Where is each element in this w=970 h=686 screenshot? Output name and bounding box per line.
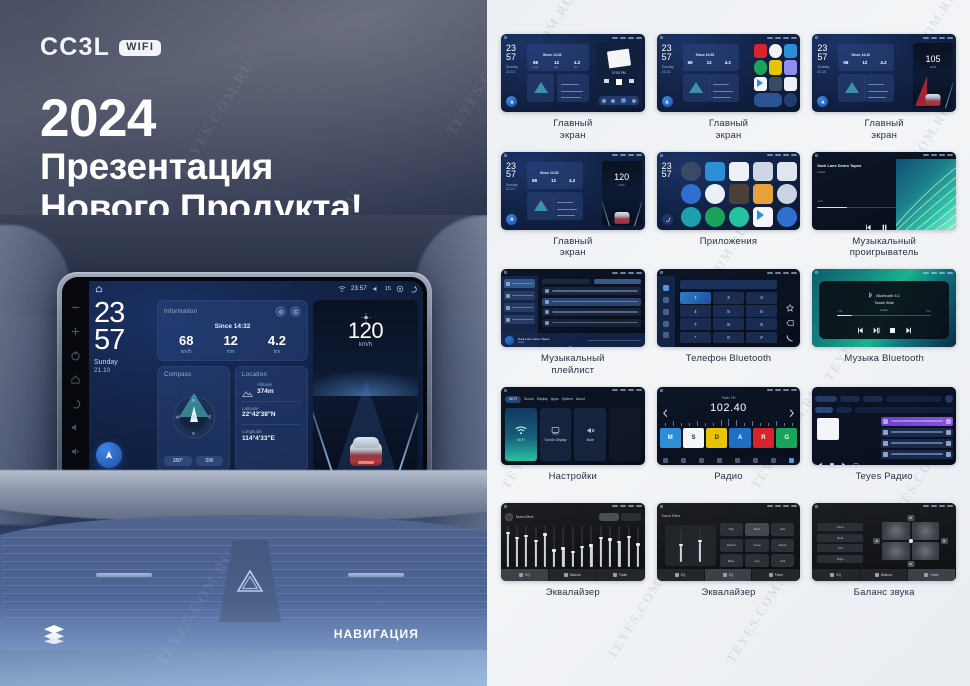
vent-chrome-right [348,573,404,577]
compass-label-e: E [208,415,211,420]
navigation-arrow-icon [509,216,515,222]
app-icon[interactable] [753,184,773,204]
information-card[interactable]: Information Since 14:32 [157,300,308,361]
head-unit-screen[interactable]: 23:57 15 23 57 Sunday 21.10 [89,281,423,478]
call-icon[interactable] [786,329,794,337]
compass-dial: N E S W [173,396,215,438]
gallery-caption: Баланс звука [854,587,915,609]
eq-band[interactable] [571,526,574,567]
teyes-subheader [812,406,956,414]
contacts-icon[interactable] [663,297,669,303]
preset-flat[interactable] [599,513,619,521]
eq-band[interactable] [599,526,602,567]
balance-down-button[interactable] [907,561,914,567]
list-item[interactable] [881,439,953,448]
scan-button[interactable] [753,458,758,463]
mini-status-bar [657,269,801,276]
dial-key[interactable]: 5 [713,305,745,317]
dial-key[interactable]: * [680,332,712,344]
eq-band[interactable] [581,526,584,567]
preset-tile[interactable]: G [776,428,797,448]
eq-band[interactable] [590,526,593,567]
progress-bar[interactable] [587,340,641,341]
home-icon [504,36,507,39]
dial-key[interactable]: 9 [746,318,778,330]
home-icon[interactable] [70,374,81,385]
card-header: Information [164,306,301,317]
thumb-stat-unit: km [574,66,577,69]
teyes-nowplaying [815,417,881,462]
eq-band[interactable] [553,526,556,567]
gallery-item[interactable]: 1 2 3 4 5 6 7 8 9 * 0 # [657,269,801,377]
gallery-item[interactable]: Radio FM 102.40 M [657,387,801,493]
gallery-item[interactable]: 2357 Sunday21.10 Since 14:32 68 12 4.2 k… [501,34,645,142]
list-item[interactable] [504,279,535,288]
gallery-caption: Радио [714,471,742,493]
sound-effect-knob[interactable] [505,513,513,521]
location-card[interactable]: Location Altitude 374m [235,366,308,472]
tune-up-icon[interactable] [788,405,795,414]
home-icon[interactable] [95,285,103,293]
app-icon[interactable] [705,207,725,227]
gallery-caption: Музыка Bluetooth [844,353,924,375]
next-icon[interactable] [841,455,847,461]
thumbnail-settings[interactable]: Wi-Fi Sound Display Apps System About Wi… [501,387,645,465]
compass-center-dot [191,415,196,420]
app-icon[interactable] [777,162,797,182]
call-history-icon[interactable] [663,321,669,327]
mini-status-bar [501,152,645,159]
thumb-location-card [864,74,894,102]
thumbnail-home-apps[interactable]: 2357 Sunday21.10 Since 14:32 68 12 4.2 [657,34,801,112]
longitude-value: 114°4'33"E [242,435,301,444]
gear-icon[interactable] [275,306,286,317]
tab-fader[interactable]: Fader [752,569,800,581]
thumb-stat-unit: min [554,66,558,69]
navigation-fab[interactable] [96,442,122,468]
star-icon[interactable] [786,299,794,307]
visualizer [896,159,956,230]
list-item[interactable] [504,315,535,324]
favorite-icon[interactable] [853,455,859,461]
eq-band[interactable] [627,526,630,567]
thumbnail-radio[interactable]: Radio FM 102.40 M [657,387,801,465]
eq-band[interactable] [608,526,611,567]
settings-card-label: Wi-Fi [517,438,524,442]
album-art [817,418,839,440]
preset-tile[interactable]: M [660,428,681,448]
app-icon[interactable] [753,162,773,182]
dial-key[interactable]: 7 [680,318,712,330]
bluetooth-version: Bluetooth 5.1 [876,293,900,298]
teyes-header [812,394,956,404]
settings-card-display[interactable]: TurnOn Display [540,408,572,461]
balance-right-button[interactable] [941,538,948,544]
dial-key[interactable]: 8 [713,318,745,330]
tab-balance[interactable]: Balance [549,569,597,581]
power-icon[interactable] [70,350,81,361]
tab-sound[interactable]: Sound [524,397,534,401]
clock-widget[interactable]: 23 57 Sunday 21.10 [94,300,152,472]
equalizer-presets [599,513,641,521]
save-button[interactable] [771,458,776,463]
thumb-hud-unit: km/h [602,183,642,187]
settings-card-mute[interactable]: Mute [574,408,606,461]
tab-balance[interactable]: Balance [860,569,908,581]
thumbnail-bluetooth-music[interactable]: Bluetooth 5.1 Toosie Slide Drake 0:48 3:… [812,269,956,347]
app-icon[interactable] [753,207,773,227]
thumb-stat: 68 [532,178,537,183]
tab[interactable] [594,279,641,284]
preset-tile[interactable]: D [706,428,727,448]
list-item[interactable] [881,450,953,459]
tune-down-icon[interactable] [662,405,669,414]
wifi-icon[interactable] [338,285,346,293]
mini-status-bar [657,387,801,394]
list-icon[interactable] [699,458,704,463]
thumbnail-equalizer-2[interactable]: Sound Effect Pop Rock Jazz Classic Vocal… [657,503,801,581]
dial-key[interactable]: 4 [680,305,712,317]
preset-button[interactable]: Pop [720,523,743,536]
app-icon [754,77,767,91]
speaker-icon [882,522,909,540]
thumbnail-home-media[interactable]: 2357 Sunday21.10 Since 14:32 68 12 4.2 k… [501,34,645,112]
preset-button[interactable]: Vocal [745,539,768,552]
tab-eq[interactable]: EQ [501,569,549,581]
thumbnail-home-hud-blue[interactable]: 2357 Sunday21.10 Since 14:32 68 12 4.2 [501,152,645,230]
frequency-scale[interactable] [663,419,795,426]
eq-band[interactable] [543,526,546,567]
volume-up-icon[interactable] [70,446,81,457]
thumb-since: Since 14:32 [540,171,559,175]
thumbnail-apps[interactable]: 2357 [657,152,801,230]
balance-readouts: Front Rear Left Right [817,521,863,565]
tab-display[interactable]: Display [537,397,548,401]
thumb-compass-card [683,74,710,102]
logo-wifi-badge: WIFI [119,40,161,56]
slider[interactable] [697,529,703,561]
list-item[interactable] [504,303,535,312]
tab-eq[interactable]: EQ [657,569,705,581]
thumb-stat-unit: km/h [533,66,539,69]
search-icon[interactable] [663,309,669,315]
dialpad: 1 2 3 4 5 6 7 8 9 * 0 # [680,292,778,343]
eq-band[interactable] [506,526,509,567]
play-pause-icon[interactable] [873,321,880,328]
stat-item: 68 km/h [179,334,193,355]
equalizer-title: Music Effect [516,515,533,519]
thumbnail-balance[interactable]: Front Rear Left Right [812,503,956,581]
screenshot-icon[interactable] [396,285,404,293]
pause-icon[interactable] [881,218,888,225]
search-icon[interactable] [681,458,686,463]
thumbnail-bluetooth-phone[interactable]: 1 2 3 4 5 6 7 8 9 * 0 # [657,269,801,347]
footer-label: НАВИГАЦИЯ [334,627,419,641]
preset-button[interactable]: Bass [720,554,743,567]
table-row[interactable] [542,319,640,327]
balance-row: Front [817,523,863,531]
eq-band[interactable] [618,526,621,567]
preset-button[interactable]: Dance [771,539,794,552]
app-icon [784,44,797,58]
eq-band[interactable] [515,526,518,567]
compass-readouts: 180° SW [164,456,223,466]
preset-button[interactable]: Classic [720,539,743,552]
thumb-hud-unit: km/h [913,65,953,69]
stats-row: 68 km/h 12 min 4.2 [164,334,301,355]
divider [242,401,301,402]
gallery-item[interactable]: 2357 Sunday21.10 Since 14:32 68 12 4.2 [812,34,956,142]
since-label: Since 14:32 [164,323,301,330]
home-icon [815,505,818,508]
playlist-main [538,276,644,333]
table-row[interactable] [542,287,640,295]
dial-key[interactable]: 0 [713,332,745,344]
thumb-clock: 2357 [662,44,672,61]
thumb-hud-speed: 105 [913,54,953,64]
thumbnail-playlist[interactable]: Dark Lane Demo Tapes Drake [501,269,645,347]
balance-row: Left [817,544,863,552]
progress-bar[interactable]: 0:48 3:12 [837,315,930,316]
thumb-since: Since 14:32 [696,53,715,57]
thumb-stat: 68 [533,60,538,65]
radio-toolbar [657,456,801,465]
equalizer-bands [506,526,640,567]
dial-key[interactable]: 1 [680,292,712,304]
stat-unit: km/h [179,349,193,355]
page-title: 2024 Презентация Нового Продукта! [40,92,460,229]
volume-down-icon[interactable] [70,422,81,433]
tab-eq-2[interactable]: EQ [705,569,753,581]
thumb-hud-widget: 120 km/h [602,161,642,226]
table-row[interactable] [542,308,640,316]
equalizer-tabbar: EQ EQ Fader [657,569,801,581]
thumbnail-teyes-radio[interactable] [812,387,956,465]
app-icon[interactable] [729,162,749,182]
table-row[interactable] [542,298,640,306]
layers-icon[interactable] [42,624,66,644]
tab-apps[interactable]: Apps [551,397,559,401]
eq-band[interactable] [562,526,565,567]
thumb-nav-fab [506,214,517,225]
app-icon[interactable] [681,184,701,204]
compass-card[interactable]: Compass N E [157,366,230,472]
grid-icon[interactable] [789,458,794,463]
thumb-information-card: Since 14:32 68 12 4.2 [683,44,739,71]
list-item[interactable] [881,417,953,426]
thumb-information-card: Since 14:32 68 12 4.2 [838,44,894,71]
tab-about[interactable]: About [576,397,585,401]
back-icon[interactable] [409,285,417,293]
slider[interactable] [678,529,684,561]
thumb-clock: 2357 [506,44,516,61]
next-icon [629,79,634,83]
app-dock-icon [784,93,797,107]
preset-tile[interactable]: S [683,428,704,448]
hud-car-model [614,212,629,224]
mini-status-bar [501,34,645,41]
radio-band: Radio FM [657,396,801,400]
gallery-caption: Настройки [549,471,597,493]
hardware-button-column [62,281,89,478]
tab-wifi[interactable]: Wi-Fi [505,396,521,403]
tab-fader[interactable]: Fader [908,569,956,581]
preset-button[interactable]: Jazz [771,523,794,536]
thumb-stat: 4.2 [880,60,886,65]
dial-key[interactable]: 3 [746,292,778,304]
app-icon[interactable] [705,184,725,204]
home-icon [660,154,663,157]
tab-system[interactable]: System [562,397,573,401]
thumb-clock: 2357 [506,162,516,179]
gallery-item[interactable]: 2357 Sunday21.10 Since 14:32 68 12 4.2 [657,34,801,142]
gallery-item[interactable]: Dark Lane Demo Tapes Drake Музыкальныйпл… [501,269,645,377]
time-elapsed: 0:48 [837,310,842,313]
app-icon[interactable] [777,207,797,227]
gallery-caption: Телефон Bluetooth [686,353,772,375]
balance-left-button[interactable] [873,538,880,544]
tab[interactable] [542,279,589,284]
refresh-icon[interactable] [290,306,301,317]
gallery-item[interactable]: Front Rear Left Right [812,503,956,609]
back-icon[interactable] [70,398,81,409]
balance-up-button[interactable] [907,515,914,521]
home-icon [660,505,663,508]
hud-car-model [346,434,386,468]
app-icon[interactable] [729,184,749,204]
stop-icon[interactable] [829,455,835,461]
phone-sidebar [657,276,676,347]
gallery-item[interactable]: 2357 [657,152,801,260]
preset-tile[interactable]: R [753,428,774,448]
dial-key[interactable]: 6 [746,305,778,317]
gallery-caption: Teyes Радио [856,471,913,493]
avatar [505,336,514,345]
minus-icon[interactable] [70,302,81,313]
previous-icon[interactable] [817,455,823,461]
tab-eq[interactable]: EQ [812,569,860,581]
equalizer2-title: Sound Effect [662,514,680,518]
app-icon[interactable] [729,207,749,227]
hud-speed-widget[interactable]: 120 km/h [313,300,418,472]
track-title: Toosie Slide [874,301,893,305]
next-icon [578,346,583,348]
app-icon [769,44,782,58]
dial-key[interactable]: # [746,332,778,344]
headlight-icon [361,309,370,318]
latitude-value: 22°42'38"N [242,411,301,420]
preset-tiles: M S D A R G [660,428,798,448]
elapsed-time: 1:24 [817,199,822,203]
previous-icon[interactable] [865,218,872,225]
gallery-caption: Эквалайзер [701,587,755,609]
plus-icon[interactable] [70,326,81,337]
previous-icon[interactable] [857,321,864,328]
playlist-tabs [542,279,640,284]
tab-fader[interactable]: Fader [597,569,645,581]
thumb-date: Sunday21.10 [506,65,518,75]
list-item[interactable] [881,428,953,437]
lower-widgets: Compass N E [157,366,308,472]
settings-card-wifi[interactable]: Wi-Fi [505,408,537,461]
gallery-item[interactable]: Teyes Радио [812,387,956,493]
card-actions [275,306,301,317]
thumb-information-card: Since 14:32 68 12 4.2 km/h min km [527,44,589,71]
thumb-since: Since 14:32 [851,53,870,57]
gallery-caption: Главныйэкран [865,118,904,141]
sound-sliders [665,525,717,566]
band-button[interactable] [663,458,668,463]
app-icon[interactable] [705,162,725,182]
clock-date: 21.10 [94,367,152,375]
app-icon[interactable] [777,184,797,204]
number-input[interactable] [680,280,778,289]
preset-button[interactable]: Live [745,554,768,567]
next-icon[interactable] [905,321,912,328]
app-icon [784,60,797,74]
preset-button[interactable]: Rock [745,523,768,536]
bluetooth-icon [868,292,873,298]
gallery-item[interactable]: Dark Lane Demo Tapes Drake 1:24 [812,152,956,260]
presentation-slide: CC3L WIFI 2024 Презентация Нового Продук… [0,0,970,686]
eq-band[interactable] [636,526,639,567]
gallery-item[interactable]: Bluetooth 5.1 Toosie Slide Drake 0:48 3:… [812,269,956,377]
gallery-item[interactable]: Wi-Fi Sound Display Apps System About Wi… [501,387,645,493]
gear-icon[interactable] [663,332,669,338]
app-icon[interactable] [681,207,701,227]
backspace-icon[interactable] [786,314,794,322]
rds-button[interactable] [735,458,740,463]
app-icon[interactable] [681,162,701,182]
hud-lane-left [602,188,610,226]
preset-button[interactable]: Soft [771,554,794,567]
eq-icon[interactable] [717,458,722,463]
balance-pad[interactable] [873,515,948,567]
thumbnail-home-hud-red[interactable]: 2357 Sunday21.10 Since 14:32 68 12 4.2 [812,34,956,112]
gallery-item[interactable]: 2357 Sunday21.10 Since 14:32 68 12 4.2 [501,152,645,260]
stop-icon [616,79,622,85]
app-icon [754,60,767,74]
volume-icon[interactable] [372,285,380,293]
eq-band[interactable] [525,526,528,567]
stop-icon[interactable] [889,321,896,328]
app-launcher-grid [681,162,798,227]
dialpad-icon[interactable] [663,285,669,291]
thumb-stat: 12 [862,60,867,65]
altitude-group: Altitude 374m [257,382,274,397]
back-icon [664,216,670,222]
list-item[interactable] [504,291,535,300]
balance-row: Right [817,555,863,563]
gallery-item[interactable]: Music Effect [501,503,645,609]
thumbnail-equalizer[interactable]: Music Effect [501,503,645,581]
player-controls [857,321,912,328]
gallery-item[interactable]: Sound Effect Pop Rock Jazz Classic Vocal… [657,503,801,609]
thumbnail-music-player[interactable]: Dark Lane Demo Tapes Drake 1:24 [812,152,956,230]
preset-tile[interactable]: A [729,428,750,448]
album-art [607,49,631,69]
car-license-plate [358,461,374,464]
car-rear-window [353,437,379,448]
home-icon [660,271,663,274]
preset-custom[interactable] [621,513,641,521]
app-dock-pill [754,93,782,107]
eq-band[interactable] [534,526,537,567]
dial-key[interactable]: 2 [713,292,745,304]
app-icon [769,77,782,91]
radio-frequency: 102.40 [657,402,801,414]
home-icon [815,154,818,157]
